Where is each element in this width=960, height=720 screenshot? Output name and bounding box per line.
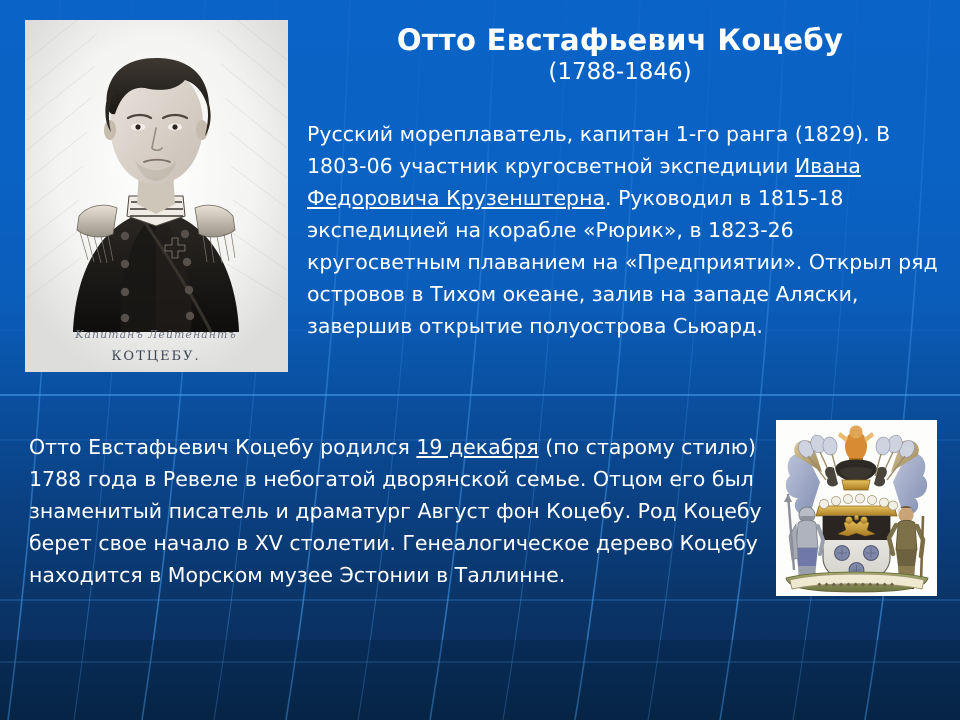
title-dates: (1788-1846) [300,59,940,87]
portrait-caption-script: Kапитанъ Лейтенантъ [74,328,237,341]
portrait-image: Kапитанъ Лейтенантъ КОТЦЕБУ. [25,20,288,372]
slide: Kапитанъ Лейтенантъ КОТЦЕБУ. Отто Евстаф… [0,0,960,720]
bio-paragraph-top: Русский мореплаватель, капитан 1-го ранг… [307,118,947,342]
coat-of-arms-image: ◆ ◆ ◆ ◆ ◆ ◆ ◆ ◆ ◆ ◆ ◆ [776,420,937,596]
page-title: Отто Евстафьевич Коцебу [300,24,940,56]
portrait-caption-name: КОТЦЕБУ. [111,349,200,364]
svg-text:◆ ◆ ◆ ◆ ◆ ◆ ◆ ◆ ◆ ◆ ◆: ◆ ◆ ◆ ◆ ◆ ◆ ◆ ◆ ◆ ◆ ◆ [817,582,895,588]
bio-paragraph-bottom: Отто Евстафьевич Коцебу родился 19 декаб… [29,431,774,591]
bio-bottom-link-date[interactable]: 19 декабря [416,435,538,459]
bio-bottom-segment-1: Отто Евстафьевич Коцебу родился [29,435,416,459]
title-block: Отто Евстафьевич Коцебу (1788-1846) [300,24,940,87]
